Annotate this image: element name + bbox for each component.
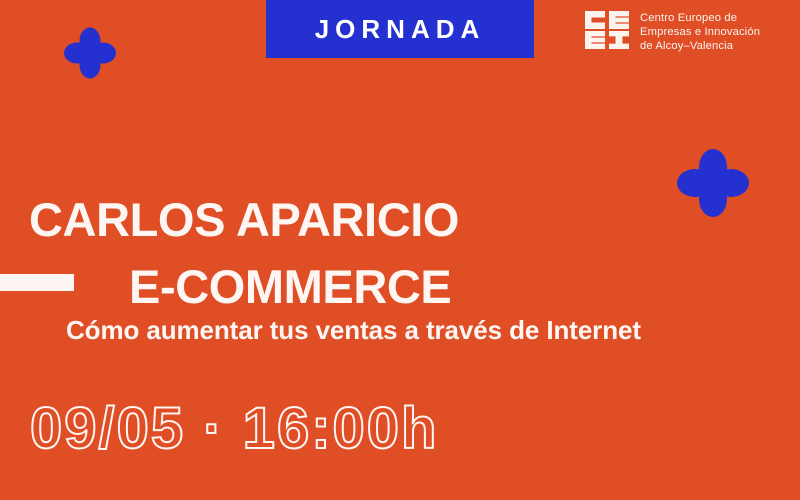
clover-icon bbox=[677, 146, 749, 220]
ceei-logo-text-line-3: de Alcoy–Valencia bbox=[640, 39, 760, 53]
jornada-label: JORNADA bbox=[315, 16, 486, 42]
ceei-logo-text-line-1: Centro Europeo de bbox=[640, 11, 760, 25]
speaker-name: CARLOS APARICIO bbox=[29, 196, 459, 243]
poster-canvas: JORNADA Centro Europeo de Empresas e Inn… bbox=[0, 0, 800, 500]
decorative-rule bbox=[0, 274, 74, 291]
jornada-banner: JORNADA bbox=[266, 0, 534, 58]
topic-title: E-COMMERCE bbox=[129, 263, 451, 310]
ceei-logo-icon bbox=[583, 9, 631, 51]
ceei-logo: Centro Europeo de Empresas e Innovación … bbox=[583, 9, 760, 54]
clover-icon bbox=[64, 26, 116, 80]
ceei-logo-text: Centro Europeo de Empresas e Innovación … bbox=[640, 9, 760, 54]
ceei-logo-text-line-2: Empresas e Innovación bbox=[640, 25, 760, 39]
datetime-label: 09/05 · 16:00h bbox=[30, 399, 438, 460]
tagline: Cómo aumentar tus ventas a través de Int… bbox=[66, 316, 641, 346]
